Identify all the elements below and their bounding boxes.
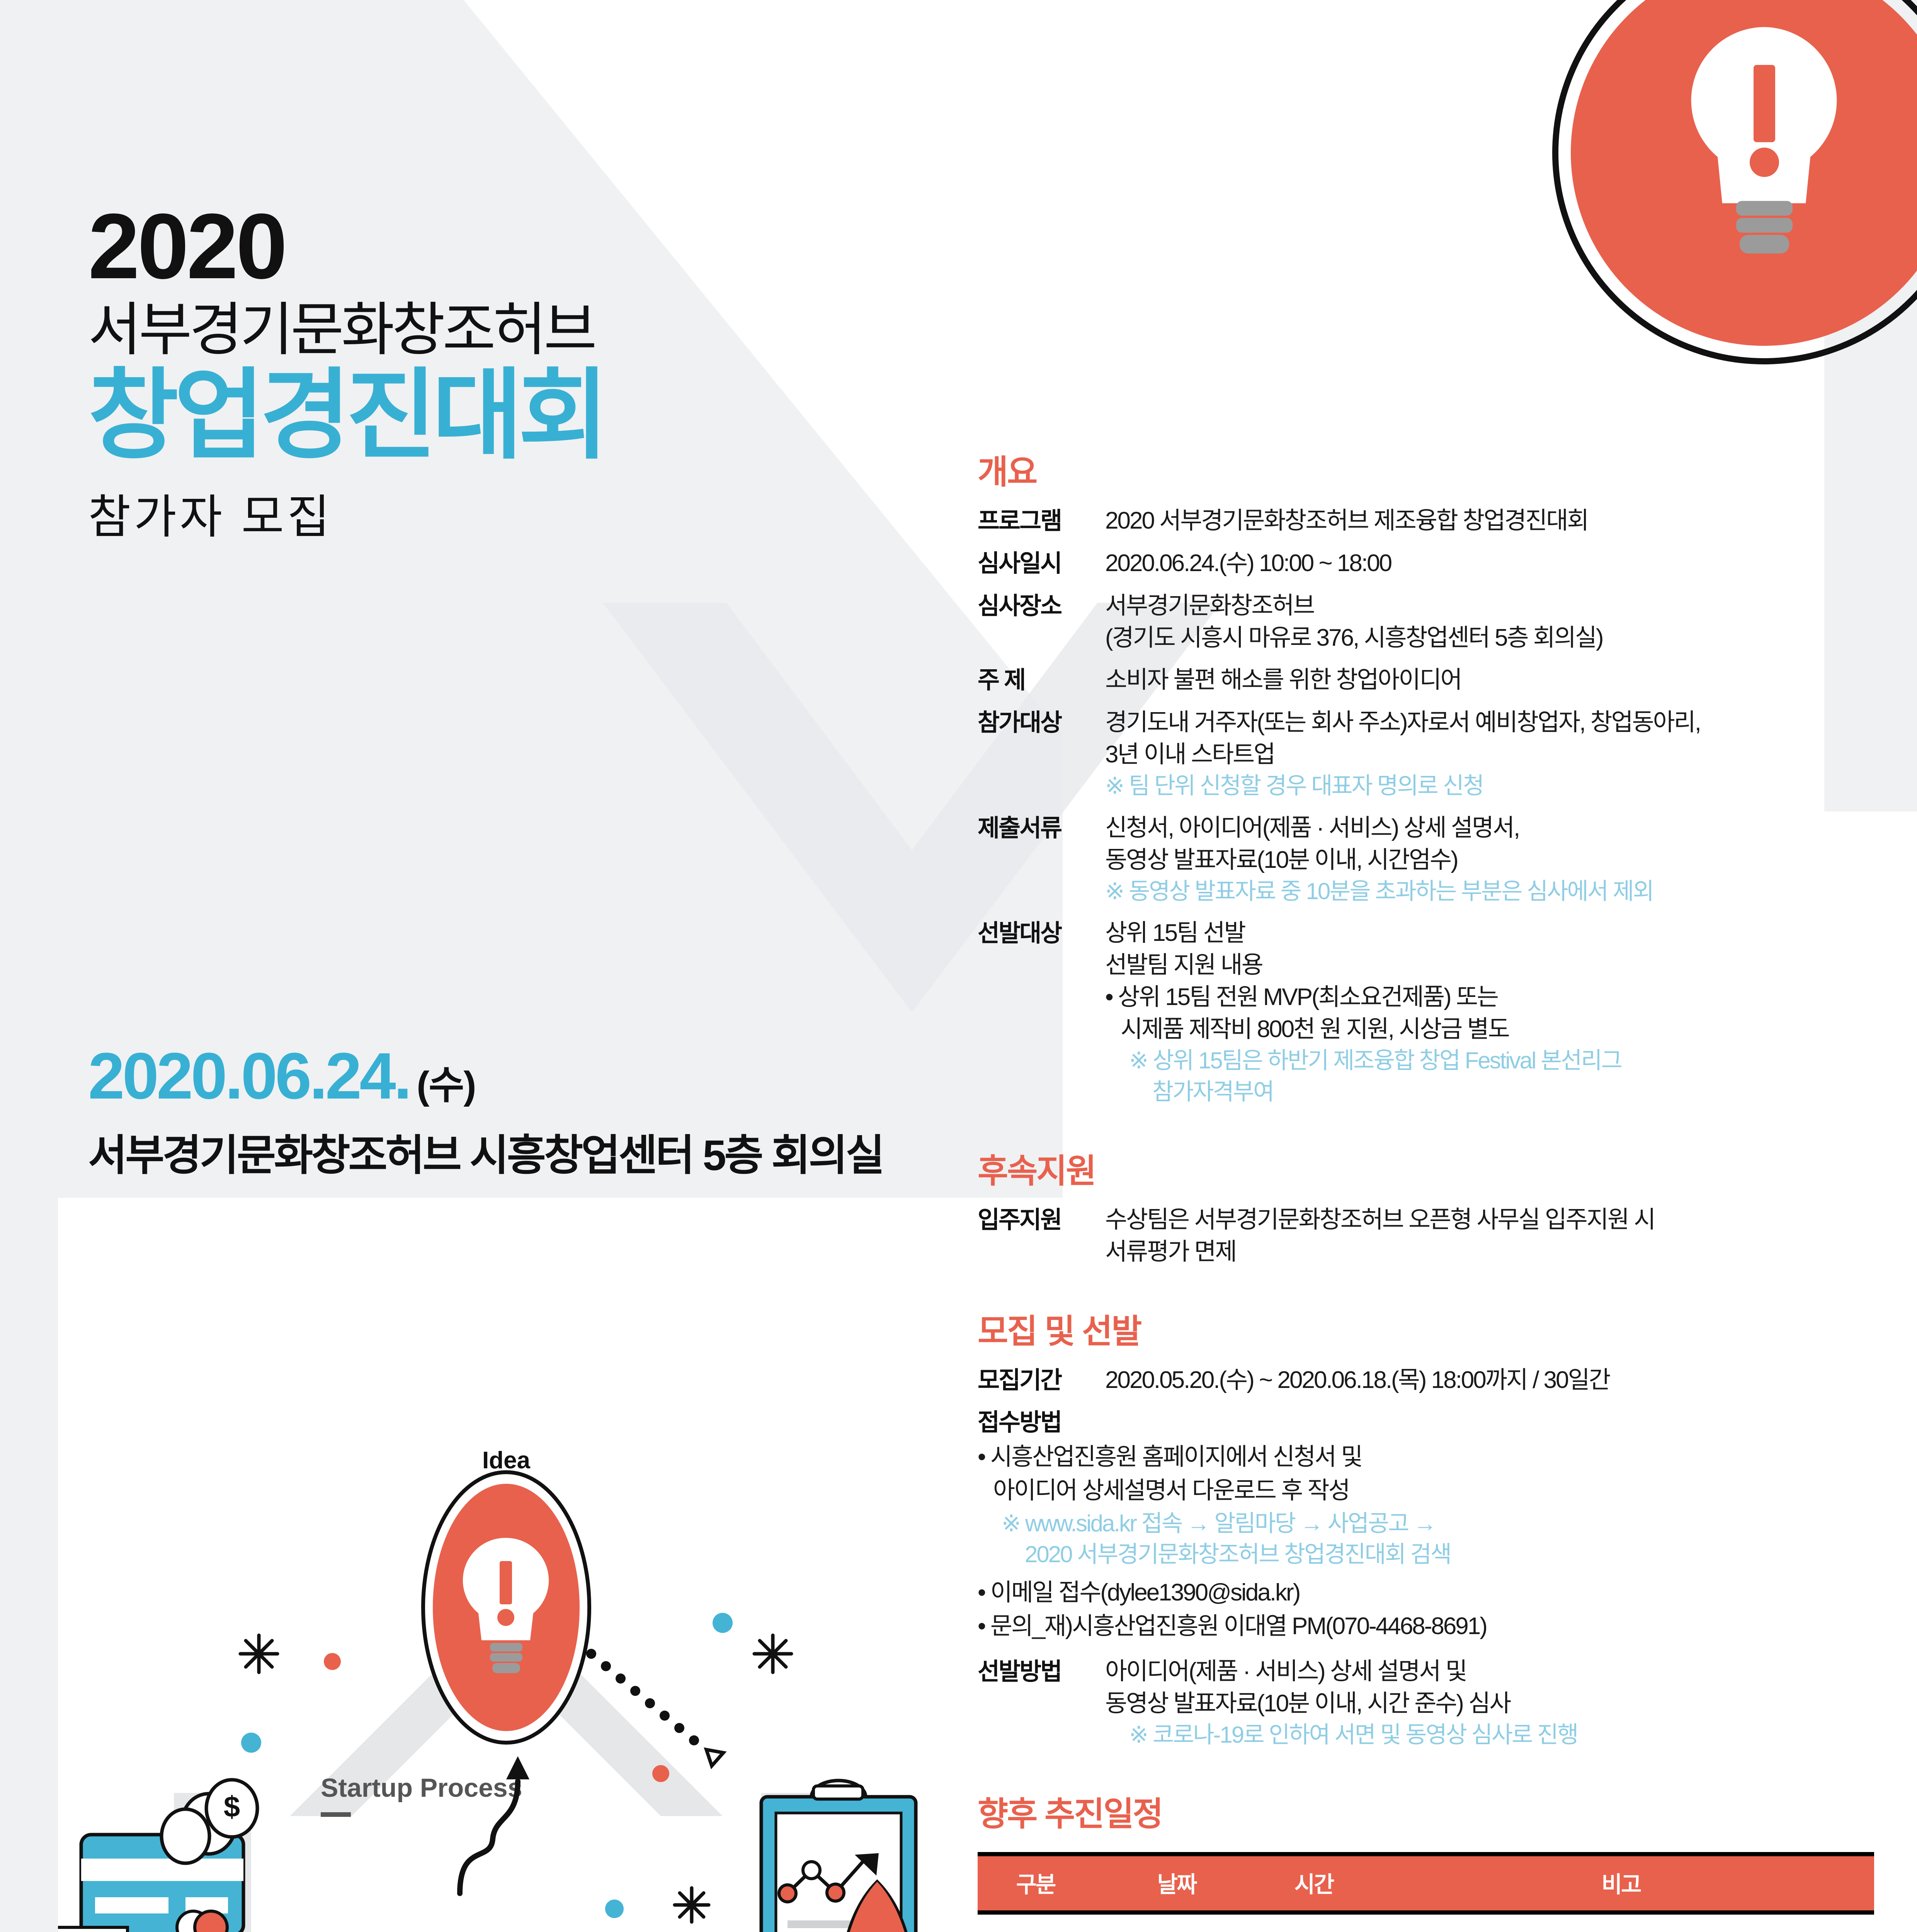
followup-row-office-support: 입주지원 수상팀은 서부경기문화창조허브 오픈형 사무실 입주지원 시 서류평가… [978, 1204, 1874, 1268]
event-venue: 서부경기문화창조허브 시흥창업센터 5층 회의실 [88, 1132, 977, 1179]
row-line: 동영상 발표자료(10분 이내, 시간 준수) 심사 [1105, 1687, 1874, 1719]
cell-date: 2020.06.24.(수) [1094, 1912, 1260, 1932]
schedule-table: 구분 날짜 시간 비고 심사 2020.06.24.(수) 10:00~18:0… [978, 1852, 1874, 1932]
row-bullet: 시제품 제작비 800천 원 지원, 시상금 별도 [1105, 1013, 1874, 1045]
row-line: 선발팀 지원 내용 [1105, 949, 1874, 981]
row-line: (경기도 시흥시 마유로 376, 시흥창업센터 5층 회의실) [1105, 622, 1874, 654]
row-line: 2020.06.24.(수) 10:00 ~ 18:00 [1105, 547, 1874, 579]
followup-rows: 입주지원 수상팀은 서부경기문화창조허브 오픈형 사무실 입주지원 시 서류평가… [978, 1204, 1874, 1268]
lightbulb-badge-icon [1542, 0, 1917, 375]
overview-row-selection-scope: 선발대상 상위 15팀 선발 선발팀 지원 내용 • 상위 15팀 전원 MVP… [978, 917, 1874, 1107]
poster-year: 2020 [88, 201, 930, 292]
overview-row-eligibility: 참가대상 경기도내 거주자(또는 회사 주소)자로서 예비창업자, 창업동아리,… [978, 706, 1874, 802]
overview-row-judging-datetime: 심사일시 2020.06.24.(수) 10:00 ~ 18:00 [978, 547, 1874, 580]
cell-notes: • 아이디어(제품 · 서비스) 상세 설명서 및 동영상 발표자료 심사 [1368, 1912, 1874, 1932]
diagonal-gray-shape [58, 0, 1063, 1198]
poster-recruit-subtitle: 참가자 모집 [88, 489, 930, 545]
row-line: 2020 서부경기문화창조허브 제조융합 창업경진대회 [1105, 505, 1874, 537]
table-row: 심사 2020.06.24.(수) 10:00~18:00 • 아이디어(제품 … [978, 1912, 1874, 1932]
row-note: ※ 팀 단위 신청할 경우 대표자 명의로 신청 [1105, 770, 1874, 801]
row-note: ※ 코로나-19로 인하여 서면 및 동영상 심사로 진행 [1105, 1719, 1874, 1750]
row-value: 2020.05.20.(수) ~ 2020.06.18.(목) 18:00까지 … [1105, 1364, 1874, 1396]
row-label: 입주지원 [978, 1204, 1105, 1236]
cell-division: 심사 [978, 1912, 1094, 1932]
info-column: 개요 프로그램 2020 서부경기문화창조허브 제조융합 창업경진대회 심사일시… [978, 454, 1874, 1932]
poster-contest-title: 창업경진대회 [88, 364, 930, 467]
overview-rows: 프로그램 2020 서부경기문화창조허브 제조융합 창업경진대회 심사일시 20… [978, 505, 1874, 1108]
row-line: 3년 이내 스타트업 [1105, 738, 1874, 770]
svg-text:$: $ [224, 1791, 240, 1823]
method-item: 아이디어 상세설명서 다운로드 후 작성 [978, 1475, 1874, 1507]
row-note: 참가자격부여 [1105, 1077, 1874, 1107]
row-value: 상위 15팀 선발 선발팀 지원 내용 • 상위 15팀 전원 MVP(최소요건… [1105, 917, 1874, 1107]
section-heading-recruitment: 모집 및 선발 [978, 1313, 1874, 1350]
row-line: 아이디어(제품 · 서비스) 상세 설명서 및 [1105, 1655, 1874, 1687]
recruitment-method-block: 접수방법 • 시흥산업진흥원 홈페이지에서 신청서 및 아이디어 상세설명서 다… [978, 1406, 1874, 1642]
recruitment-rows: 모집기간 2020.05.20.(수) ~ 2020.06.18.(목) 18:… [978, 1364, 1874, 1751]
recruitment-method-list: • 시흥산업진흥원 홈페이지에서 신청서 및 아이디어 상세설명서 다운로드 후… [978, 1441, 1874, 1642]
method-note: 2020 서부경기문화창조허브 창업경진대회 검색 [978, 1539, 1874, 1570]
row-label: 선발대상 [978, 917, 1105, 949]
row-line: 서부경기문화창조허브 [1105, 590, 1874, 622]
row-line: 서류평가 면제 [1105, 1236, 1874, 1268]
row-label: 선발방법 [978, 1655, 1105, 1688]
section-heading-schedule: 향후 추진일정 [978, 1796, 1874, 1833]
poster-title-block: 2020 서부경기문화창조허브 창업경진대회 참가자 모집 [88, 201, 930, 545]
method-note: ※ www.sida.kr 접속 → 알림마당 → 사업공고 → [978, 1508, 1874, 1539]
recruitment-row-period: 모집기간 2020.05.20.(수) ~ 2020.06.18.(목) 18:… [978, 1364, 1874, 1396]
svg-text:Idea: Idea [482, 1447, 531, 1474]
left-gray-band [0, 0, 58, 1932]
schedule-table-wrapper: 구분 날짜 시간 비고 심사 2020.06.24.(수) 10:00~18:0… [978, 1852, 1874, 1932]
poster-hub-name: 서부경기문화창조허브 [88, 297, 930, 362]
recruitment-method-label: 접수방법 [978, 1406, 1874, 1439]
overview-row-documents: 제출서류 신청서, 아이디어(제품 · 서비스) 상세 설명서, 동영상 발표자… [978, 812, 1874, 907]
event-date-block: 2020.06.24.(수) 서부경기문화창조허브 시흥창업센터 5층 회의실 [88, 1043, 977, 1179]
svg-text:Startup Process: Startup Process [321, 1773, 522, 1803]
row-label: 심사일시 [978, 547, 1105, 580]
recruitment-row-selection-method: 선발방법 아이디어(제품 · 서비스) 상세 설명서 및 동영상 발표자료(10… [978, 1655, 1874, 1751]
contact-item-phone: • 문의_재)시흥산업진흥원 이대열 PM(070-4468-8691) [978, 1610, 1874, 1642]
startup-process-illustration: Idea Startup Process $ [58, 1406, 954, 1932]
schedule-col-date: 날짜 [1094, 1854, 1260, 1912]
row-line: 상위 15팀 선발 [1105, 917, 1874, 949]
row-value: 서부경기문화창조허브 (경기도 시흥시 마유로 376, 시흥창업센터 5층 회… [1105, 590, 1874, 654]
schedule-col-time: 시간 [1260, 1854, 1368, 1912]
row-line: 동영상 발표자료(10분 이내, 시간엄수) [1105, 844, 1874, 876]
event-date: 2020.06.24. [88, 1043, 410, 1109]
row-label: 제출서류 [978, 812, 1105, 844]
row-label: 모집기간 [978, 1364, 1105, 1396]
row-line: 2020.05.20.(수) ~ 2020.06.18.(목) 18:00까지 … [1105, 1364, 1874, 1396]
row-note: ※ 상위 15팀은 하반기 제조융합 창업 Festival 본선리그 [1105, 1045, 1874, 1076]
overview-row-program: 프로그램 2020 서부경기문화창조허브 제조융합 창업경진대회 [978, 505, 1874, 537]
row-label: 주 제 [978, 664, 1105, 696]
row-line: 경기도내 거주자(또는 회사 주소)자로서 예비창업자, 창업동아리, [1105, 706, 1874, 738]
row-line: 소비자 불편 해소를 위한 창업아이디어 [1105, 664, 1874, 696]
row-line: 수상팀은 서부경기문화창조허브 오픈형 사무실 입주지원 시 [1105, 1204, 1874, 1236]
row-value: 경기도내 거주자(또는 회사 주소)자로서 예비창업자, 창업동아리, 3년 이… [1105, 706, 1874, 802]
row-bullet: • 상위 15팀 전원 MVP(최소요건제품) 또는 [1105, 981, 1874, 1013]
row-value: 소비자 불편 해소를 위한 창업아이디어 [1105, 664, 1874, 696]
event-weekday: (수) [417, 1054, 476, 1110]
schedule-header-row: 구분 날짜 시간 비고 [978, 1854, 1874, 1912]
schedule-col-notes: 비고 [1368, 1854, 1874, 1912]
row-value: 아이디어(제품 · 서비스) 상세 설명서 및 동영상 발표자료(10분 이내,… [1105, 1655, 1874, 1751]
schedule-col-division: 구분 [978, 1854, 1094, 1912]
section-heading-followup: 후속지원 [978, 1153, 1874, 1190]
row-label: 프로그램 [978, 505, 1105, 537]
row-value: 신청서, 아이디어(제품 · 서비스) 상세 설명서, 동영상 발표자료(10분… [1105, 812, 1874, 907]
row-value: 2020.06.24.(수) 10:00 ~ 18:00 [1105, 547, 1874, 579]
row-label: 심사장소 [978, 590, 1105, 622]
section-heading-overview: 개요 [978, 454, 1874, 491]
overview-row-theme: 주 제 소비자 불편 해소를 위한 창업아이디어 [978, 664, 1874, 696]
row-note: ※ 동영상 발표자료 중 10분을 초과하는 부분은 심사에서 제외 [1105, 876, 1874, 907]
cell-time: 10:00~18:00 [1260, 1912, 1368, 1932]
row-value: 2020 서부경기문화창조허브 제조융합 창업경진대회 [1105, 505, 1874, 537]
row-line: 신청서, 아이디어(제품 · 서비스) 상세 설명서, [1105, 812, 1874, 844]
row-label: 참가대상 [978, 706, 1105, 739]
row-value: 수상팀은 서부경기문화창조허브 오픈형 사무실 입주지원 시 서류평가 면제 [1105, 1204, 1874, 1268]
method-item: • 시흥산업진흥원 홈페이지에서 신청서 및 [978, 1441, 1874, 1473]
overview-row-judging-venue: 심사장소 서부경기문화창조허브 (경기도 시흥시 마유로 376, 시흥창업센터… [978, 590, 1874, 654]
contact-item-email: • 이메일 접수(dylee1390@sida.kr) [978, 1577, 1874, 1609]
